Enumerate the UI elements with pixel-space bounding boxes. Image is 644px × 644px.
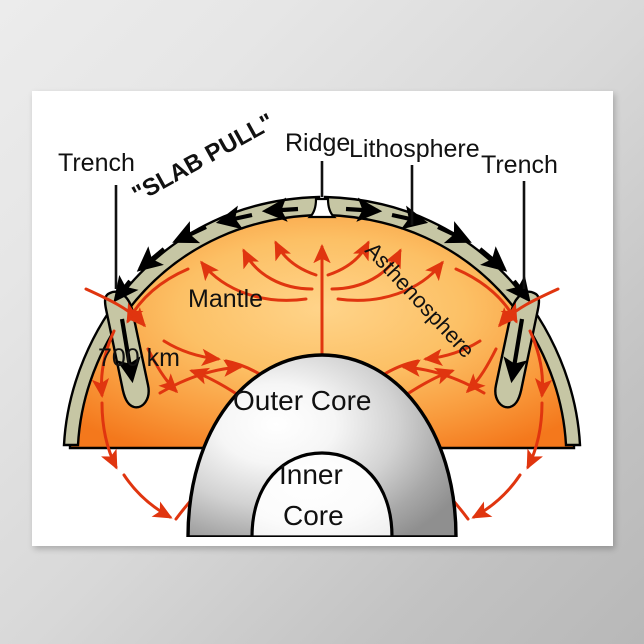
diagram-artboard: Trench "SLAB PULL" Ridge Lithosphere Tre… xyxy=(48,103,597,537)
label-lithosphere: Lithosphere xyxy=(349,135,480,163)
screenshot-canvas: Trench "SLAB PULL" Ridge Lithosphere Tre… xyxy=(0,0,644,644)
label-trench-right: Trench xyxy=(481,151,558,179)
earth-cross-section-svg: Trench "SLAB PULL" Ridge Lithosphere Tre… xyxy=(48,103,597,537)
label-inner-core-line2: Core xyxy=(283,500,344,531)
label-mantle: Mantle xyxy=(188,285,263,313)
label-slab-pull: "SLAB PULL" xyxy=(128,108,279,208)
label-inner-core-line1: Inner xyxy=(279,459,343,490)
poster-sheet: Trench "SLAB PULL" Ridge Lithosphere Tre… xyxy=(32,91,613,546)
label-ridge: Ridge xyxy=(285,129,350,157)
label-outer-core: Outer Core xyxy=(233,385,372,416)
label-trench-left: Trench xyxy=(58,149,135,177)
label-700-km: 700 km xyxy=(98,344,180,372)
